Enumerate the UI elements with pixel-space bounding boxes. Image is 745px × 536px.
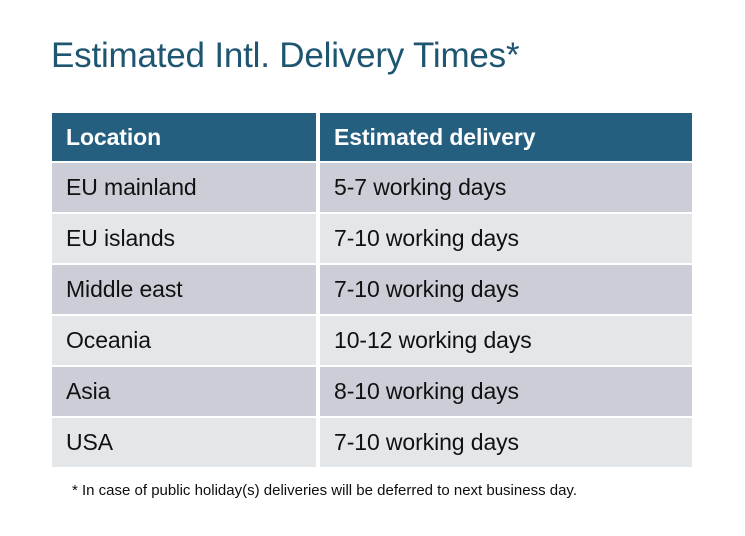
cell-location: EU islands — [52, 214, 316, 263]
table-row: Oceania 10-12 working days — [52, 316, 692, 365]
cell-location: Asia — [52, 367, 316, 416]
footnote-text: * In case of public holiday(s) deliverie… — [72, 481, 577, 501]
column-header-location: Location — [52, 113, 316, 161]
cell-estimated-delivery: 5-7 working days — [320, 163, 692, 212]
table-row: Middle east 7-10 working days — [52, 265, 692, 314]
delivery-times-page: Estimated Intl. Delivery Times* Location… — [0, 0, 745, 536]
cell-estimated-delivery: 7-10 working days — [320, 214, 692, 263]
cell-estimated-delivery: 8-10 working days — [320, 367, 692, 416]
cell-location: EU mainland — [52, 163, 316, 212]
cell-location: Oceania — [52, 316, 316, 365]
cell-location: Middle east — [52, 265, 316, 314]
cell-estimated-delivery: 7-10 working days — [320, 265, 692, 314]
cell-estimated-delivery: 10-12 working days — [320, 316, 692, 365]
cell-estimated-delivery: 7-10 working days — [320, 418, 692, 467]
table-row: Asia 8-10 working days — [52, 367, 692, 416]
delivery-times-table: Location Estimated delivery EU mainland … — [52, 113, 692, 469]
table-header-row: Location Estimated delivery — [52, 113, 692, 161]
column-header-estimated-delivery: Estimated delivery — [320, 113, 692, 161]
table-row: USA 7-10 working days — [52, 418, 692, 467]
page-title: Estimated Intl. Delivery Times* — [51, 34, 519, 78]
table-row: EU islands 7-10 working days — [52, 214, 692, 263]
table-row: EU mainland 5-7 working days — [52, 163, 692, 212]
cell-location: USA — [52, 418, 316, 467]
